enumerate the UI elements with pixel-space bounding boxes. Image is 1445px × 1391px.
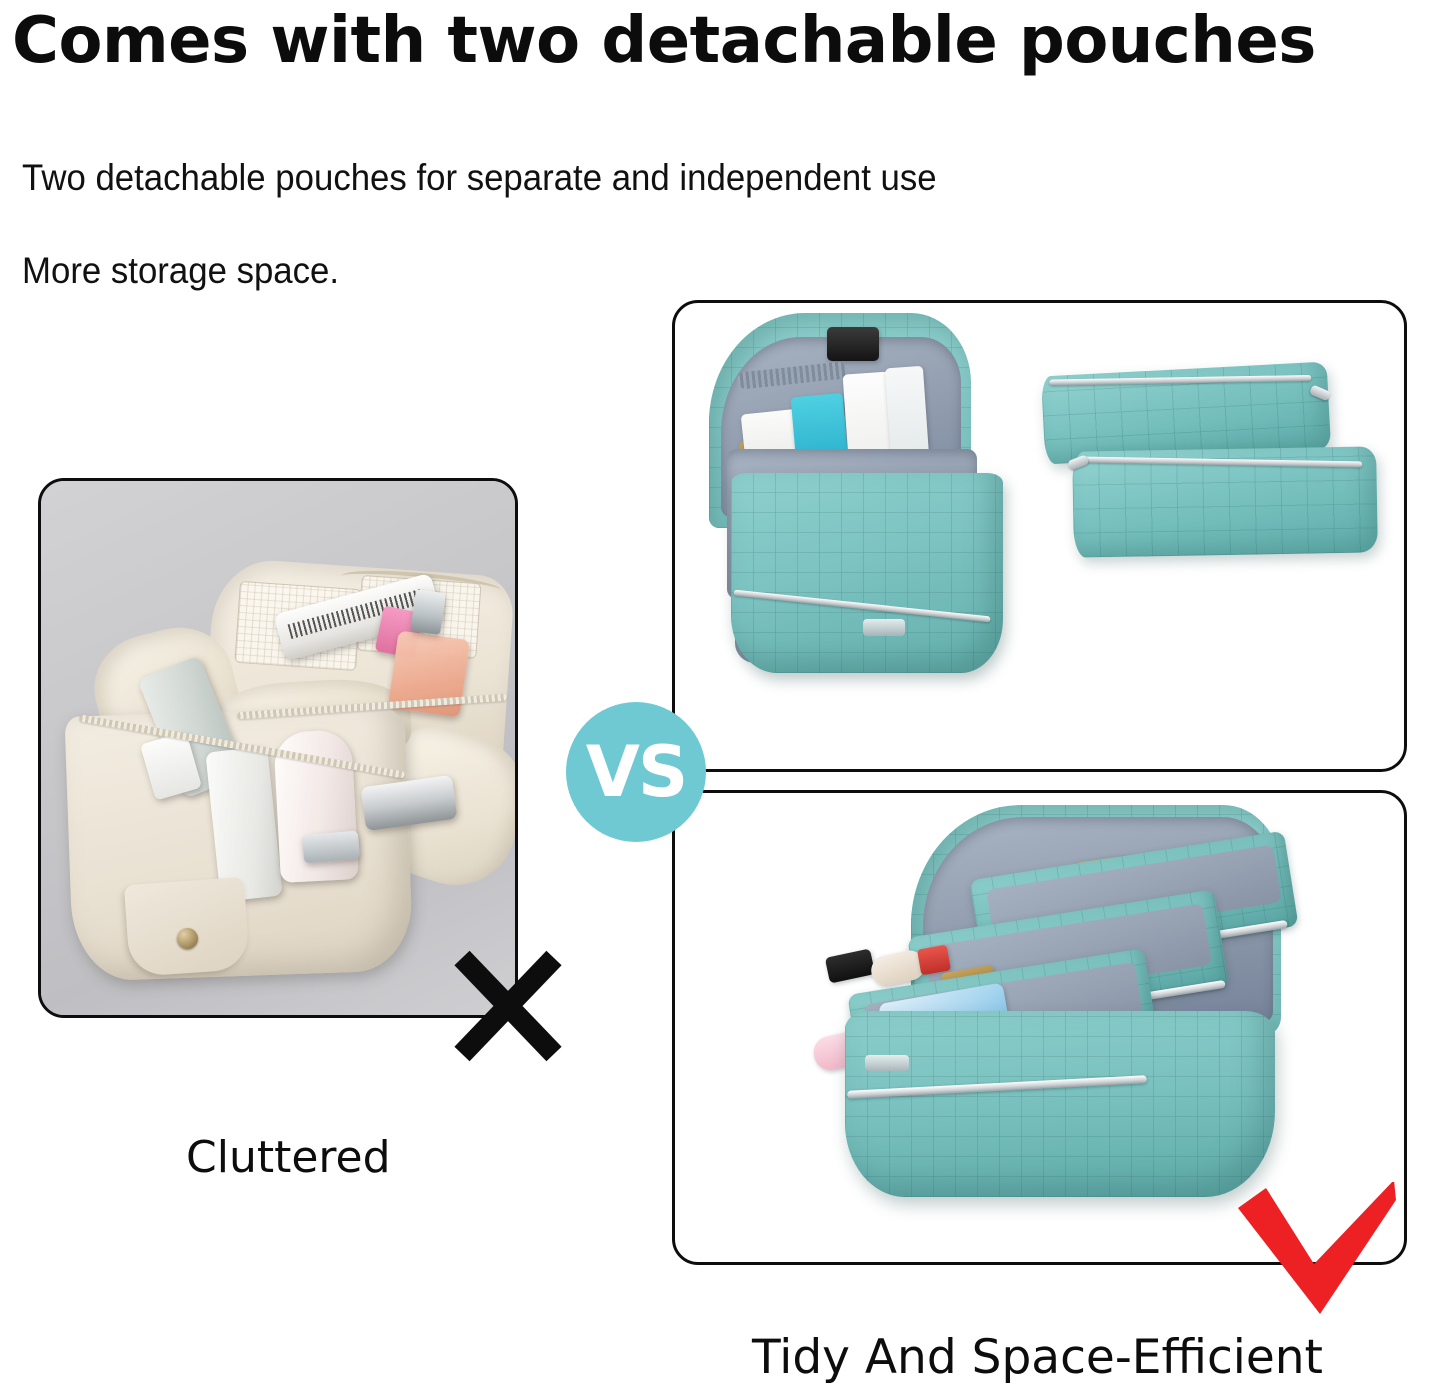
check-mark-icon <box>1236 1182 1401 1317</box>
brand-logo-plate <box>863 619 905 636</box>
flat-bag-body <box>845 1011 1275 1197</box>
cluttered-bag-photo <box>41 481 515 1015</box>
croc-texture-body <box>731 473 1003 673</box>
caption-cluttered: Cluttered <box>186 1132 391 1183</box>
caption-tidy: Tidy And Space-Efficient <box>752 1330 1323 1385</box>
product-photo-panel-top <box>672 300 1407 772</box>
detachable-pouch-front <box>1072 446 1378 557</box>
versus-badge: VS <box>566 702 706 842</box>
brand-logo-plate-flat <box>865 1055 909 1071</box>
bag-front-flap <box>124 877 250 977</box>
snap-button <box>177 928 198 949</box>
teal-bag-body <box>731 473 1003 673</box>
content-red-lipstick <box>917 945 951 976</box>
x-mark-icon <box>448 946 568 1066</box>
teal-bag-and-pouches-photo <box>675 303 1404 769</box>
product-silver-cap <box>410 589 446 635</box>
product-small-metal-tube <box>302 831 360 864</box>
cluttered-photo-panel <box>38 478 518 1018</box>
body-line-2: More storage space. <box>22 250 339 292</box>
content-black-case <box>827 327 879 361</box>
croc-texture-flat-body <box>845 1011 1275 1197</box>
versus-label: VS <box>586 737 687 807</box>
page-title: Comes with two detachable pouches <box>12 2 1412 80</box>
content-black-pouch-item <box>825 949 875 984</box>
body-line-1: Two detachable pouches for separate and … <box>22 157 937 199</box>
